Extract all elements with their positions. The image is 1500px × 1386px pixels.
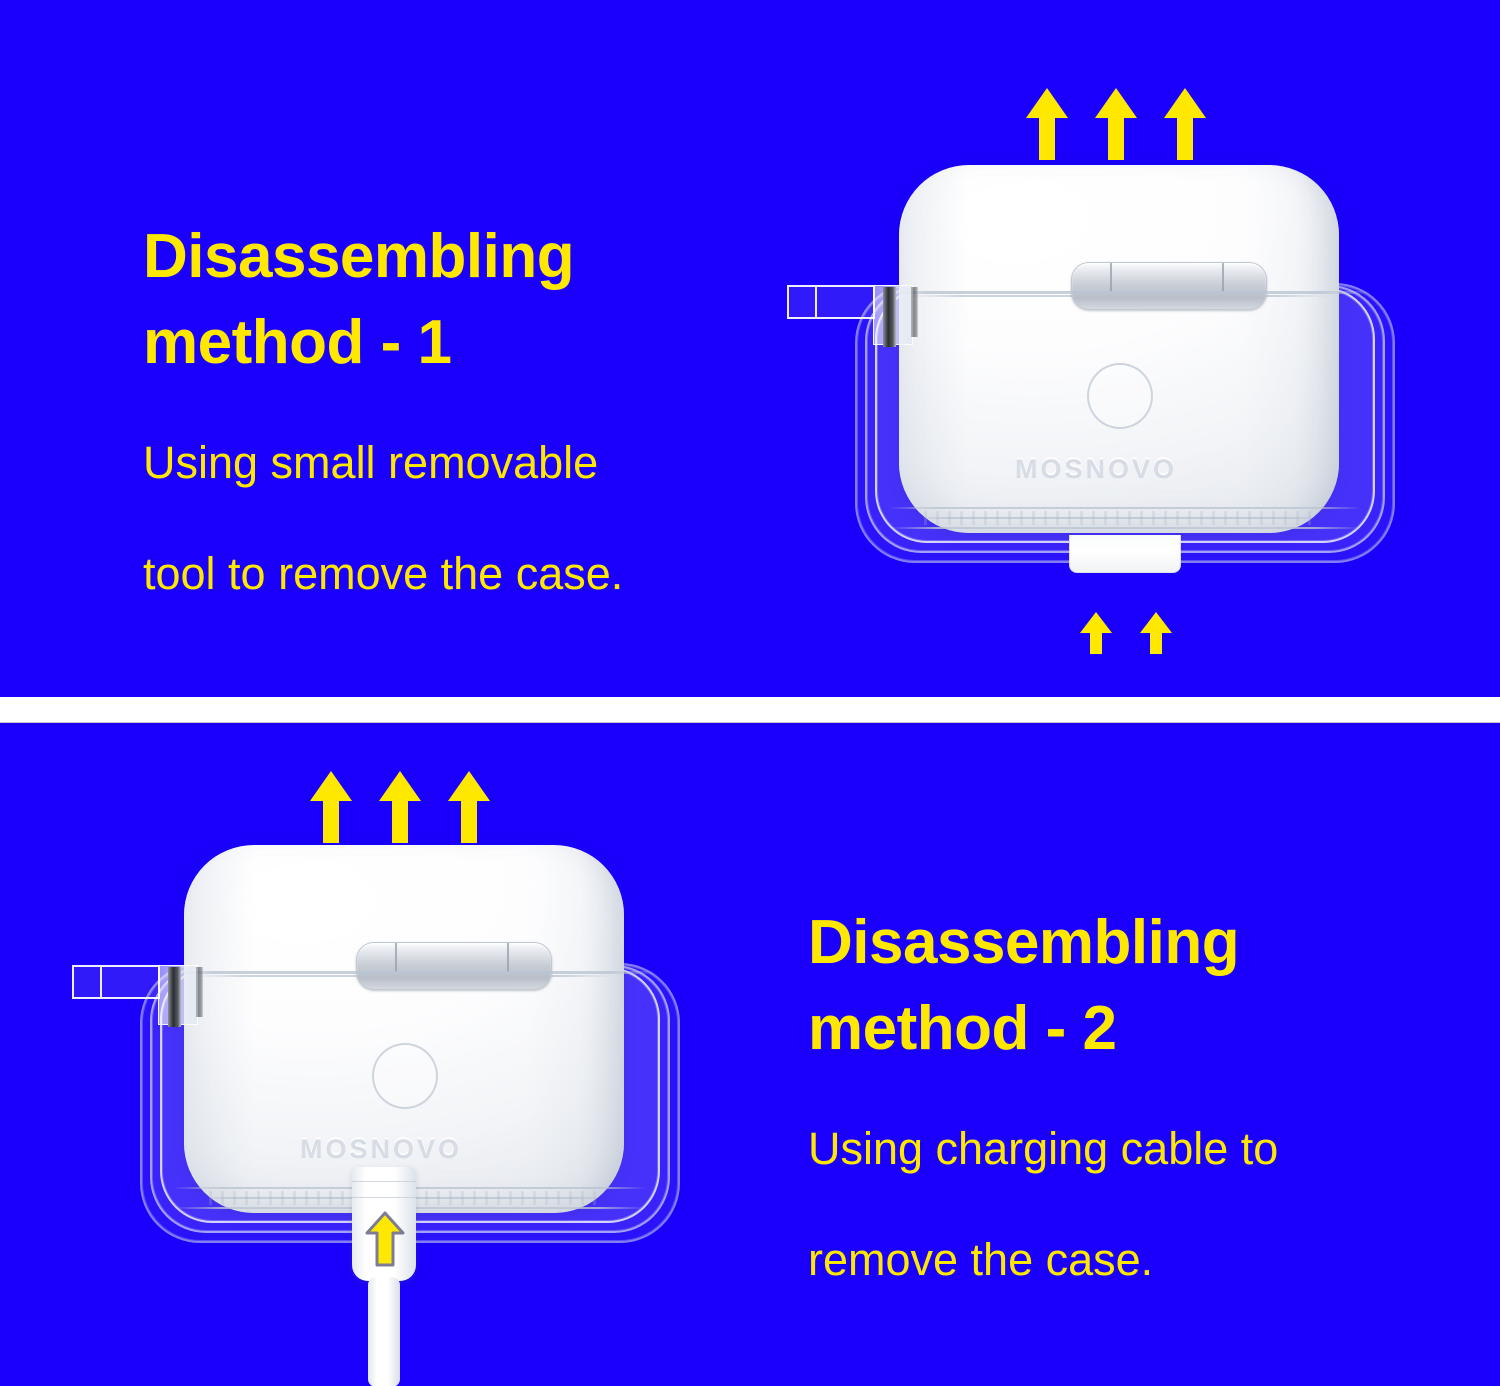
tool-flat-head xyxy=(787,285,875,319)
clear-shell-top-lip xyxy=(879,291,1371,294)
hinge-notch-left xyxy=(1110,263,1112,292)
brand-emboss: MOSNOVO xyxy=(1015,453,1177,484)
tool-metal-shaft xyxy=(883,287,896,347)
method-1-subtext-line-1: Using small removable xyxy=(143,431,623,496)
hinge-notch-right xyxy=(1222,263,1224,292)
up-arrow-icon xyxy=(1080,612,1112,654)
method-2-subtext-line-2: remove the case. xyxy=(808,1228,1278,1293)
clear-shell-bottom-texture xyxy=(915,511,1315,525)
up-arrow-icon xyxy=(310,771,352,843)
charging-cable-plug xyxy=(352,1167,416,1281)
up-arrow-icon xyxy=(379,771,421,843)
up-arrow-icon xyxy=(1026,88,1068,160)
tool-metal-edge xyxy=(911,287,918,337)
charging-port-cutout xyxy=(1069,535,1181,573)
small-removable-tool xyxy=(787,285,947,357)
airpods-case-illustration-1: MOSNOVO xyxy=(855,165,1395,585)
panel-method-1: Disassembling method - 1 Using small rem… xyxy=(0,0,1500,697)
case-hinge-bar xyxy=(1071,262,1267,310)
up-arrow-icon xyxy=(448,771,490,843)
method-2-heading-line-1: Disassembling xyxy=(808,900,1278,986)
tool-head-divider xyxy=(815,287,817,317)
airpods-case-body: MOSNOVO xyxy=(899,165,1339,533)
airpods-case-body: MOSNOVO xyxy=(184,845,624,1213)
up-arrow-icon xyxy=(1140,612,1172,654)
clear-shell-top-lip xyxy=(164,971,656,974)
led-indicator-icon xyxy=(1087,363,1153,429)
case-right-shading xyxy=(527,845,624,1213)
up-arrow-icon xyxy=(1095,88,1137,160)
method-1-text-block: Disassembling method - 1 Using small rem… xyxy=(143,214,623,607)
tool-metal-shaft xyxy=(168,967,181,1027)
clear-shell-bottom-line-2 xyxy=(889,527,1361,529)
up-arrow-icon xyxy=(1164,88,1206,160)
tool-head-divider xyxy=(100,967,102,997)
method-2-heading-line-2: method - 2 xyxy=(808,986,1278,1072)
hinge-notch-right xyxy=(507,943,509,972)
tool-flat-head xyxy=(72,965,160,999)
airpods-case-illustration-2: MOSNOVO xyxy=(140,845,680,1265)
instruction-sheet: Disassembling method - 1 Using small rem… xyxy=(0,0,1500,1386)
brand-emboss: MOSNOVO xyxy=(300,1133,462,1164)
plug-seam-2 xyxy=(352,1197,416,1198)
plug-seam-1 xyxy=(352,1181,416,1182)
method-2-subtext-line-1: Using charging cable to xyxy=(808,1117,1278,1182)
up-arrow-icon xyxy=(365,1211,405,1272)
case-hinge-bar xyxy=(356,942,552,990)
case-right-shading xyxy=(1242,165,1339,533)
method-1-subtext-line-2: tool to remove the case. xyxy=(143,542,623,607)
method-1-heading-line-2: method - 1 xyxy=(143,300,623,386)
clear-shell-bottom-line-1 xyxy=(889,507,1361,509)
charging-cable-cord xyxy=(368,1277,400,1386)
panel-divider xyxy=(0,697,1500,723)
hinge-notch-left xyxy=(395,943,397,972)
method-2-text-block: Disassembling method - 2 Using charging … xyxy=(808,900,1278,1293)
panel-method-2: Disassembling method - 2 Using charging … xyxy=(0,723,1500,1386)
method-1-heading-line-1: Disassembling xyxy=(143,214,623,300)
led-indicator-icon xyxy=(372,1043,438,1109)
small-removable-tool xyxy=(72,965,232,1037)
tool-metal-edge xyxy=(196,967,203,1017)
